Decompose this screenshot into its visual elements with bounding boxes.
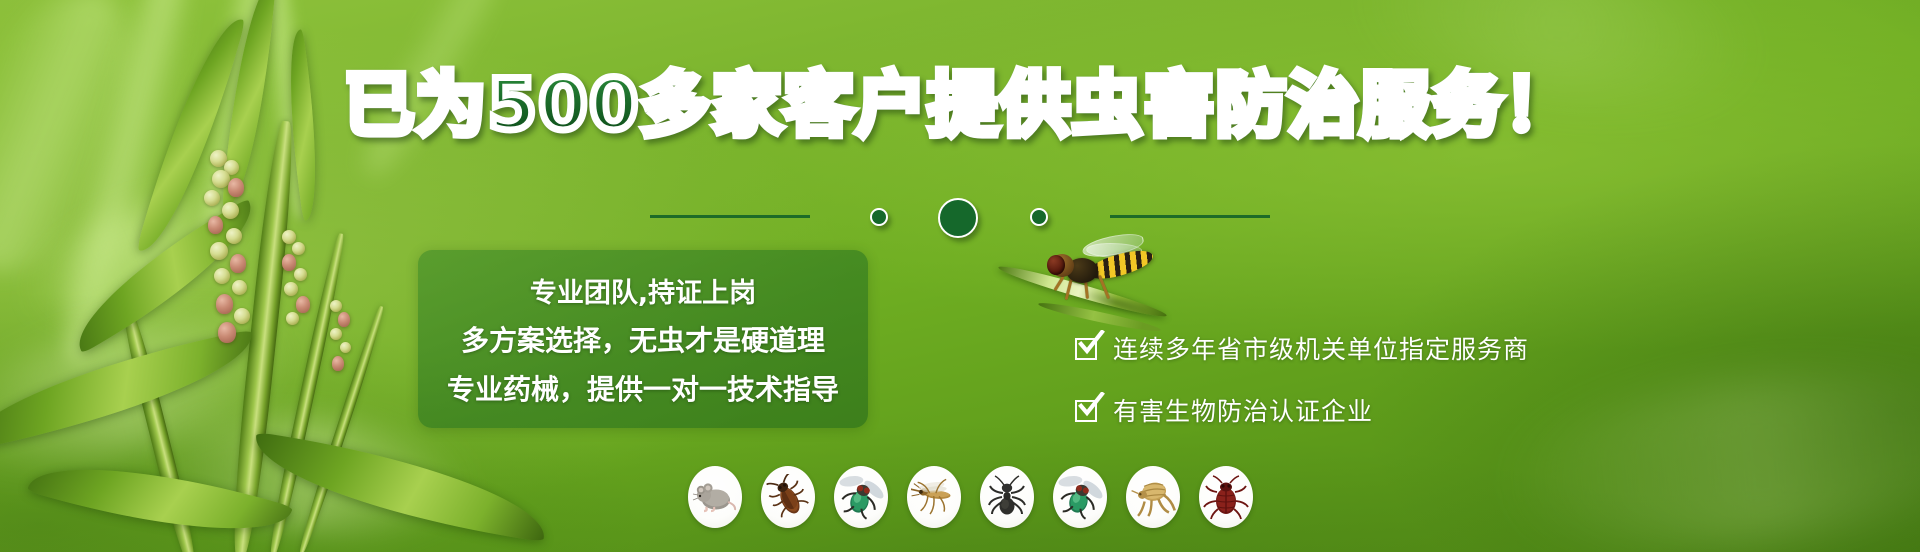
checkbox-checked-icon xyxy=(1075,336,1100,361)
checklist-item-label: 连续多年省市级机关单位指定服务商 xyxy=(1113,330,1529,366)
pest-icon-mosquito[interactable] xyxy=(907,466,961,528)
pest-icon-mouse[interactable] xyxy=(688,466,742,528)
plant-stem xyxy=(296,305,387,552)
pest-icon-fly[interactable] xyxy=(834,466,888,528)
headline-text: 已为500多家客户提供虫害防治服务！ xyxy=(344,70,1576,140)
pest-icon-fly-2[interactable] xyxy=(1053,466,1107,528)
checklist-item: 连续多年省市级机关单位指定服务商 xyxy=(1075,330,1529,366)
checklist-item-label: 有害生物防治认证企业 xyxy=(1113,392,1373,428)
panel-line-1: 专业团队,持证上岗 xyxy=(530,271,756,310)
decor-dot-large xyxy=(938,198,978,238)
hoverfly-icon xyxy=(1040,238,1160,300)
pest-icon-flea[interactable] xyxy=(1126,466,1180,528)
pest-icon-ant[interactable] xyxy=(980,466,1034,528)
divider-line-left xyxy=(650,215,810,218)
credentials-checklist: 连续多年省市级机关单位指定服务商 有害生物防治认证企业 xyxy=(1075,330,1529,428)
decor-dot-small-left xyxy=(870,208,888,226)
decorative-divider xyxy=(0,196,1920,236)
checklist-item: 有害生物防治认证企业 xyxy=(1075,392,1529,428)
pest-icon-cockroach[interactable] xyxy=(761,466,815,528)
panel-line-3: 专业药械，提供一对一技术指导 xyxy=(447,368,839,408)
panel-line-2: 多方案选择，无虫才是硬道理 xyxy=(461,319,825,359)
headline-container: 已为500多家客户提供虫害防治服务！ xyxy=(0,70,1920,140)
pest-icon-row xyxy=(688,466,1253,528)
pest-icon-bedbug[interactable] xyxy=(1199,466,1253,528)
divider-line-right xyxy=(1110,215,1270,218)
promo-banner: 已为500多家客户提供虫害防治服务！ 专业团队,持证上岗 多方案选择，无虫才是硬… xyxy=(0,0,1920,552)
selling-points-panel: 专业团队,持证上岗 多方案选择，无虫才是硬道理 专业药械，提供一对一技术指导 xyxy=(418,250,868,428)
decor-dot-small-right xyxy=(1030,208,1048,226)
checkbox-checked-icon xyxy=(1075,398,1100,423)
